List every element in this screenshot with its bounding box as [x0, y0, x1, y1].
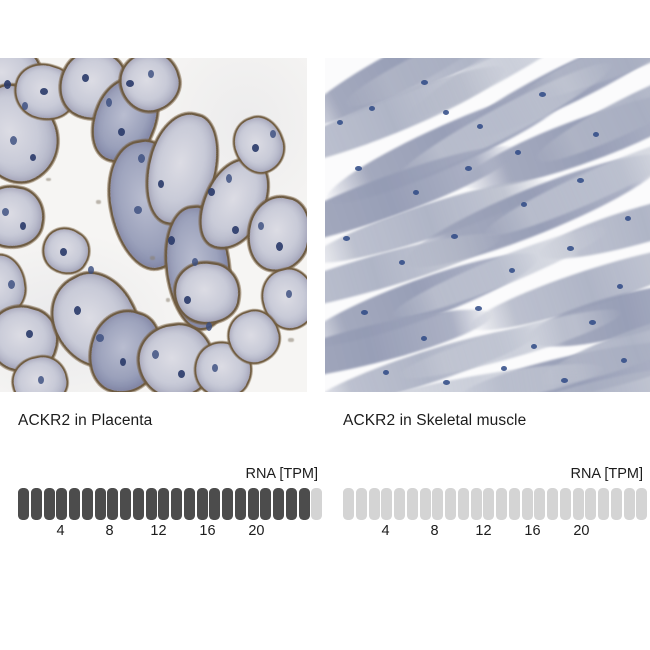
- rna-segment-empty: [471, 488, 482, 520]
- rna-segment-empty: [509, 488, 520, 520]
- rna-tpm-label: RNA [TPM]: [18, 466, 318, 483]
- rna-segment-empty: [311, 488, 322, 520]
- rna-segment-filled: [120, 488, 131, 520]
- rna-axis-tick: 20: [573, 523, 589, 539]
- rna-segment-filled: [286, 488, 297, 520]
- rna-axis-placenta: 48121620: [18, 522, 318, 544]
- rna-segment-filled: [248, 488, 259, 520]
- rna-segment-filled: [184, 488, 195, 520]
- rna-segment-filled: [44, 488, 55, 520]
- rna-bar-placenta[interactable]: [18, 488, 318, 520]
- rna-segment-empty: [381, 488, 392, 520]
- rna-segment-empty: [483, 488, 494, 520]
- rna-segment-empty: [598, 488, 609, 520]
- rna-segment-filled: [56, 488, 67, 520]
- caption-placenta: ACKR2 in Placenta: [18, 412, 152, 430]
- rna-segment-filled: [31, 488, 42, 520]
- rna-axis-tick: 8: [105, 523, 113, 539]
- rna-segment-empty: [573, 488, 584, 520]
- rna-segment-filled: [299, 488, 310, 520]
- micrograph-placenta[interactable]: [0, 58, 307, 392]
- caption-skeletal-muscle: ACKR2 in Skeletal muscle: [343, 412, 526, 430]
- rna-segment-filled: [235, 488, 246, 520]
- rna-segment-empty: [458, 488, 469, 520]
- rna-segment-filled: [222, 488, 233, 520]
- rna-segment-filled: [18, 488, 29, 520]
- rna-segment-filled: [158, 488, 169, 520]
- rna-segment-empty: [445, 488, 456, 520]
- rna-segment-filled: [133, 488, 144, 520]
- rna-segment-filled: [171, 488, 182, 520]
- rna-gauge-skeletal-muscle: RNA [TPM] 48121620: [343, 466, 643, 544]
- figure-root: ACKR2 in Placenta ACKR2 in Skeletal musc…: [0, 0, 650, 650]
- rna-axis-tick: 4: [57, 523, 65, 539]
- rna-segment-filled: [260, 488, 271, 520]
- rna-segment-empty: [343, 488, 354, 520]
- rna-segment-filled: [273, 488, 284, 520]
- rna-segment-filled: [82, 488, 93, 520]
- rna-segment-empty: [369, 488, 380, 520]
- rna-segment-empty: [547, 488, 558, 520]
- rna-segment-filled: [69, 488, 80, 520]
- rna-tpm-label: RNA [TPM]: [343, 466, 643, 483]
- rna-segment-empty: [560, 488, 571, 520]
- rna-segment-empty: [585, 488, 596, 520]
- skeletal-muscle-stage: [325, 58, 650, 392]
- rna-axis-tick: 12: [150, 523, 166, 539]
- micrograph-skeletal-muscle[interactable]: [325, 58, 650, 392]
- rna-segment-empty: [356, 488, 367, 520]
- rna-segment-empty: [394, 488, 405, 520]
- rna-segment-empty: [636, 488, 647, 520]
- rna-segment-empty: [432, 488, 443, 520]
- rna-axis-tick: 4: [382, 523, 390, 539]
- rna-bar-skeletal-muscle[interactable]: [343, 488, 643, 520]
- rna-axis-skeletal-muscle: 48121620: [343, 522, 643, 544]
- rna-axis-tick: 12: [475, 523, 491, 539]
- rna-segment-empty: [496, 488, 507, 520]
- rna-segment-filled: [209, 488, 220, 520]
- rna-segment-empty: [624, 488, 635, 520]
- rna-axis-tick: 16: [524, 523, 540, 539]
- rna-axis-tick: 16: [199, 523, 215, 539]
- rna-segment-empty: [522, 488, 533, 520]
- rna-segment-empty: [534, 488, 545, 520]
- rna-axis-tick: 8: [430, 523, 438, 539]
- rna-segment-filled: [107, 488, 118, 520]
- rna-segment-empty: [420, 488, 431, 520]
- rna-segment-filled: [95, 488, 106, 520]
- rna-segment-empty: [407, 488, 418, 520]
- rna-gauge-placenta: RNA [TPM] 48121620: [18, 466, 318, 544]
- rna-segment-empty: [611, 488, 622, 520]
- rna-segment-filled: [197, 488, 208, 520]
- placenta-stage: [0, 58, 307, 392]
- rna-segment-filled: [146, 488, 157, 520]
- rna-axis-tick: 20: [248, 523, 264, 539]
